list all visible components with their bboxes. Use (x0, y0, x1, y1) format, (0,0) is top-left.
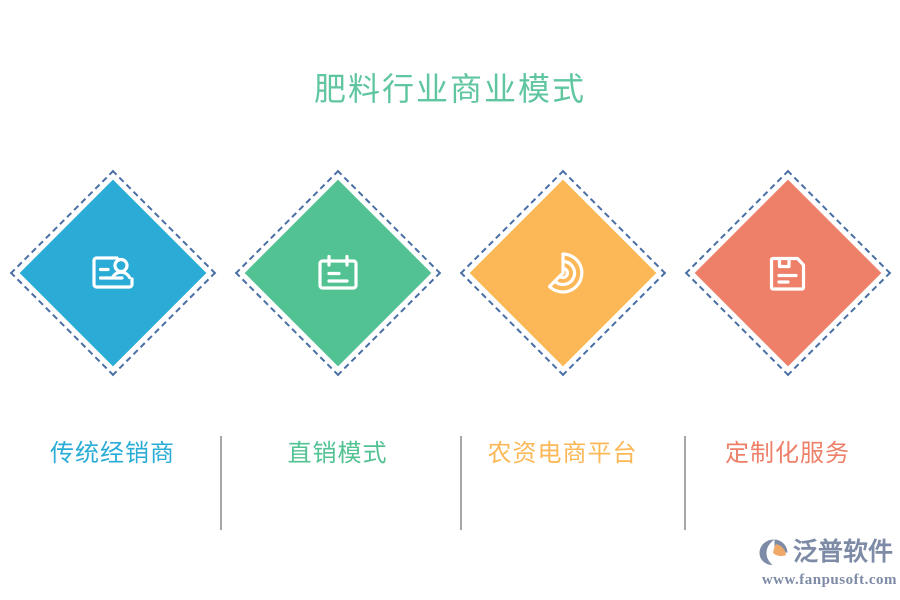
contact-card-icon (85, 245, 141, 301)
mode-column-1[interactable]: 传统经销商 (0, 160, 225, 560)
mode-label-4: 定制化服务 (675, 436, 900, 470)
calendar-note-icon (310, 245, 366, 301)
mode-column-4[interactable]: 定制化服务 (675, 160, 900, 560)
document-file-icon (760, 245, 816, 301)
diamond-graphic-4 (683, 168, 893, 378)
diamond-graphic-2 (233, 168, 443, 378)
column-divider-3 (684, 436, 686, 530)
infographic-page: 肥料行业商业模式 传统经销商 (0, 0, 900, 600)
mode-column-3[interactable]: 农资电商平台 (450, 160, 675, 560)
mode-column-2[interactable]: 直销模式 (225, 160, 450, 560)
fanpu-logo-icon (757, 536, 791, 568)
watermark-logo: 泛普软件 www.fanpusoft.com (757, 534, 897, 592)
watermark-brand-text: 泛普软件 (793, 536, 893, 568)
column-divider-1 (220, 436, 222, 530)
watermark-url-text: www.fanpusoft.com (757, 570, 897, 590)
diamond-graphic-1 (8, 168, 218, 378)
diamond-graphic-3 (458, 168, 668, 378)
page-title: 肥料行业商业模式 (0, 68, 900, 110)
mode-label-3: 农资电商平台 (450, 436, 675, 470)
mode-columns: 传统经销商 直销模式 (0, 160, 900, 560)
watermark-brand-row: 泛普软件 (757, 534, 897, 570)
broadcast-arc-icon (535, 245, 591, 301)
mode-label-2: 直销模式 (225, 436, 450, 470)
column-divider-2 (460, 436, 462, 530)
mode-label-1: 传统经销商 (0, 436, 225, 470)
